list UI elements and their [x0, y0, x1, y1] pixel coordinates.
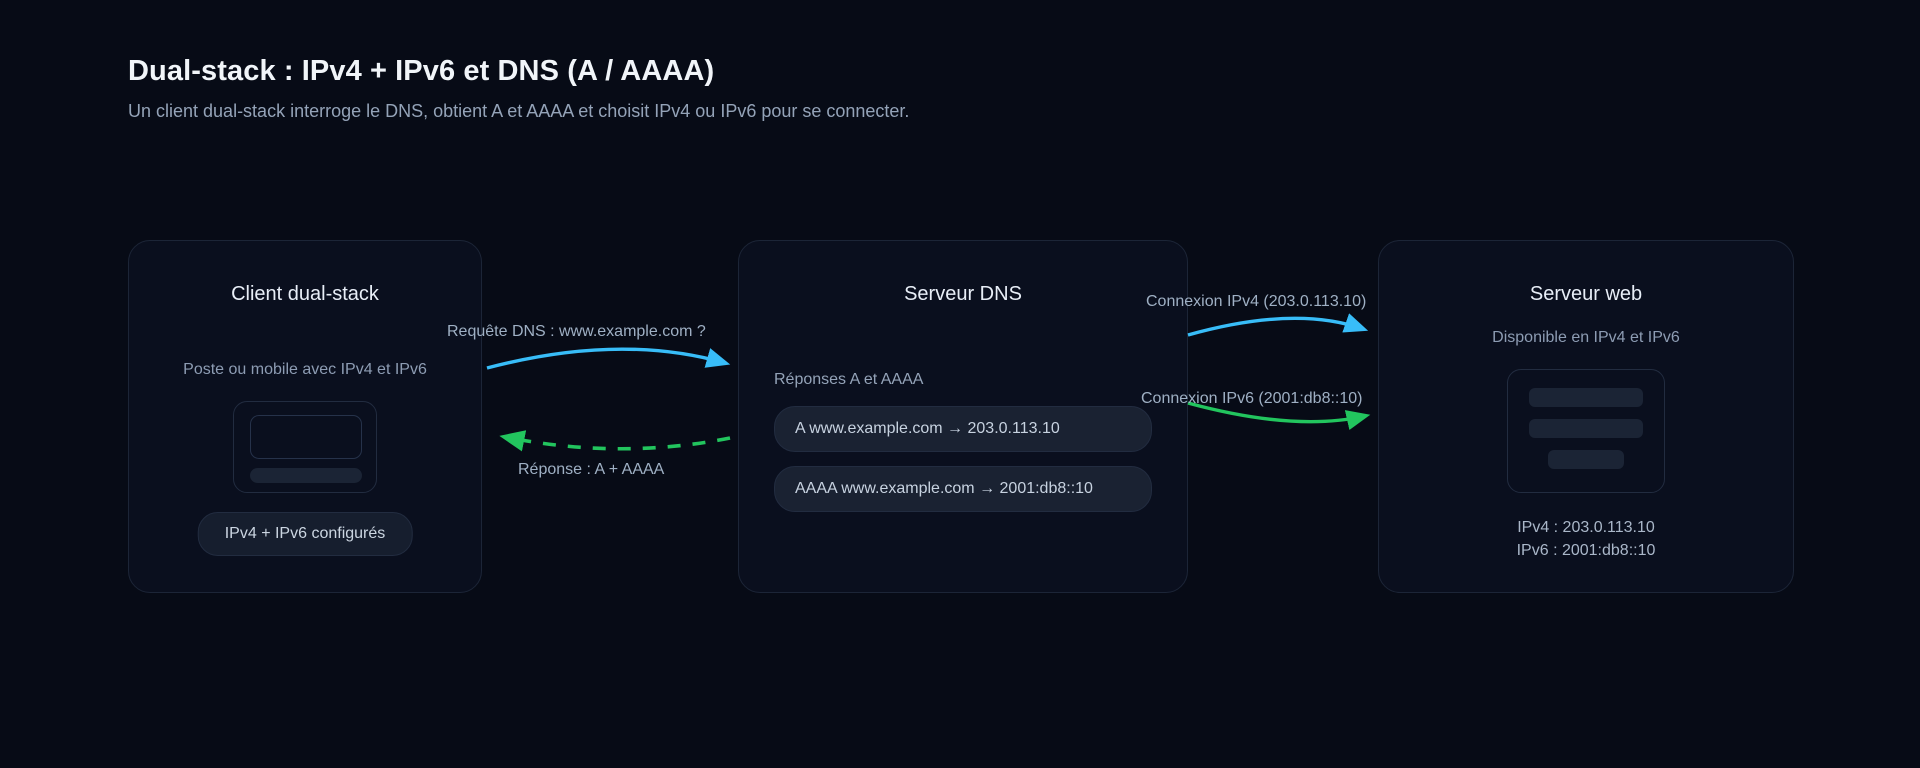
client-title: Client dual-stack: [129, 283, 481, 306]
web-address-ipv6: IPv6 : 2001:db8::10: [1379, 539, 1793, 562]
dns-title: Serveur DNS: [739, 283, 1187, 306]
client-status-badge: IPv4 + IPv6 configurés: [198, 512, 413, 556]
arrow-label-connection-ipv4: Connexion IPv4 (203.0.113.10): [1146, 293, 1366, 311]
dns-record-a: A www.example.com → 203.0.113.10: [774, 406, 1152, 452]
laptop-base-icon: [250, 468, 362, 483]
dns-record-aaaa: AAAA www.example.com → 2001:db8::10: [774, 466, 1152, 512]
diagram-canvas: Dual-stack : IPv4 + IPv6 et DNS (A / AAA…: [0, 0, 1920, 768]
arrow-label-connection-ipv6: Connexion IPv6 (2001:db8::10): [1141, 390, 1362, 408]
node-web-server: Serveur web Disponible en IPv4 et IPv6 I…: [1378, 240, 1794, 593]
header: Dual-stack : IPv4 + IPv6 et DNS (A / AAA…: [128, 55, 909, 122]
server-rack-icon: [1507, 369, 1665, 493]
node-dns-server: Serveur DNS Réponses A et AAAA A www.exa…: [738, 240, 1188, 593]
laptop-screen-icon: [250, 415, 362, 459]
web-addresses: IPv4 : 203.0.113.10 IPv6 : 2001:db8::10: [1379, 516, 1793, 562]
arrow-label-dns-response: Réponse : A + AAAA: [518, 461, 664, 479]
arrow-dns-query: [487, 349, 725, 368]
server-rack-bar: [1529, 388, 1643, 407]
node-client-dual-stack: Client dual-stack Poste ou mobile avec I…: [128, 240, 482, 593]
page-subtitle: Un client dual-stack interroge le DNS, o…: [128, 101, 909, 122]
client-subtitle: Poste ou mobile avec IPv4 et IPv6: [129, 361, 481, 379]
server-rack-bar: [1529, 419, 1643, 438]
arrow-dns-response: [505, 437, 730, 449]
laptop-icon: [233, 401, 377, 493]
arrow-connection-ipv4: [1188, 318, 1363, 335]
web-title: Serveur web: [1379, 283, 1793, 306]
dns-record-list: A www.example.com → 203.0.113.10 AAAA ww…: [774, 406, 1152, 512]
arrow-label-dns-query: Requête DNS : www.example.com ?: [447, 323, 706, 341]
web-subtitle: Disponible en IPv4 et IPv6: [1379, 329, 1793, 347]
web-address-ipv4: IPv4 : 203.0.113.10: [1379, 516, 1793, 539]
dns-records-label: Réponses A et AAAA: [774, 371, 923, 389]
server-rack-bar: [1548, 450, 1624, 469]
page-title: Dual-stack : IPv4 + IPv6 et DNS (A / AAA…: [128, 55, 909, 88]
